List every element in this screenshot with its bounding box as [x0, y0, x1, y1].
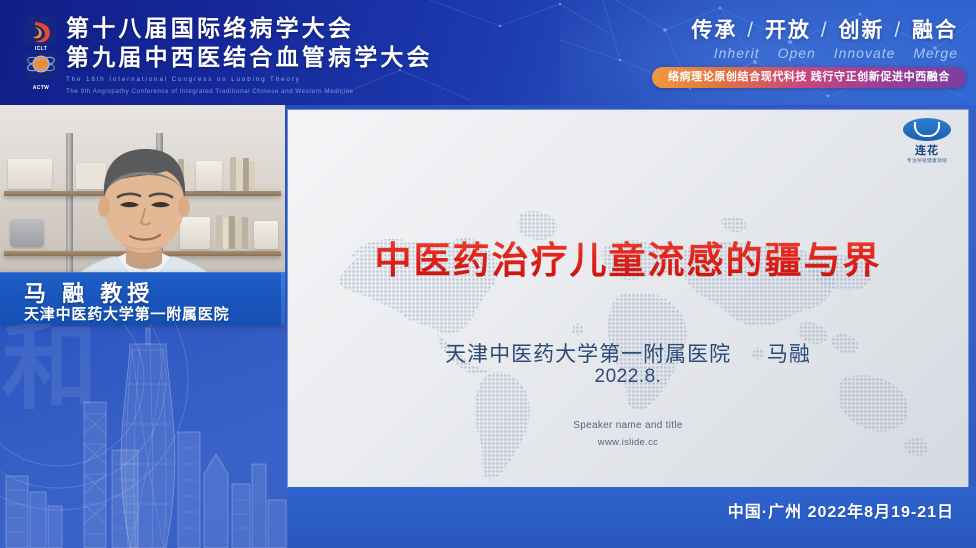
harmony-character-watermark: 和 — [2, 324, 94, 416]
slogan-word-merge-cn: 融合 — [912, 19, 958, 42]
slogan-word-open-cn: 开放 — [765, 19, 811, 42]
footer-location-date: 中国·广州 2022年8月19-21日 — [728, 498, 954, 522]
slogan-word-innovate-en: Innovate — [834, 45, 896, 61]
actw-emblem-label: ACTW — [18, 85, 64, 91]
slogan-chinese: 传承 / 开放 / 创新 / 融合 — [691, 14, 958, 44]
slogan-word-innovate-cn: 创新 — [838, 19, 884, 42]
city-skyline-decoration: 和 — [0, 324, 288, 548]
conference-title-block: 第十八届国际络病学大会 第九届中西医结合血管病学大会 The 18th Inte… — [66, 14, 433, 96]
conference-banner: ICLT ACTW 第十八届国际络病学大会 第九届中西医结合血管病学大会 The… — [0, 0, 976, 105]
slogan-word-inherit-cn: 传承 — [691, 19, 737, 42]
slide-date-text: 2022.8. — [288, 366, 968, 388]
conference-emblems: ICLT ACTW — [18, 16, 64, 90]
conference-title-primary: 第十八届国际络病学大会 — [66, 14, 433, 43]
conference-title-secondary: 第九届中西医结合血管病学大会 — [66, 43, 433, 72]
conference-subtitle-en-primary: The 18th International Congress on Luobi… — [66, 75, 433, 84]
slogan-separator-2: / — [821, 19, 829, 42]
broadcast-screen: ICLT ACTW 第十八届国际络病学大会 第九届中西医结合血管病学大会 The… — [0, 0, 976, 548]
speaker-affiliation-text: 天津中医药大学第一附属医院 — [24, 303, 229, 324]
footer-bar: 中国·广州 2022年8月19-21日 — [288, 487, 976, 548]
lianhua-logo-tagline: 专注呼吸健康领域 — [896, 158, 958, 164]
slide-subtitle-line: 天津中医药大学第一附属医院 马融 — [288, 338, 968, 368]
slide-template-url: www.islide.cc — [288, 437, 968, 448]
slogan-english: Inherit Open Innovate Merge — [691, 45, 958, 61]
slogan-word-inherit-en: Inherit — [714, 45, 760, 61]
slogan-word-open-en: Open — [778, 45, 816, 61]
slogan-pill-badge: 络病理论原创结合现代科技 践行守正创新促进中西融合 — [652, 67, 966, 88]
conference-subtitle-en-secondary: The 9th Angiopathy Conference of Integra… — [66, 87, 433, 96]
slogan-block: 传承 / 开放 / 创新 / 融合 Inherit Open Innovate … — [691, 14, 958, 61]
actw-emblem-icon — [22, 52, 60, 86]
lianhua-brand-logo: 连花 专注呼吸健康领域 — [896, 118, 958, 164]
slogan-separator-1: / — [747, 19, 755, 42]
slogan-word-merge-en: Merge — [913, 45, 958, 61]
speaker-lower-third: 马 融 教授 天津中医药大学第一附属医院 — [0, 272, 285, 325]
lianhua-logo-mark-icon — [903, 118, 951, 141]
presentation-slide[interactable]: 连花 专注呼吸健康领域 中医药治疗儿童流感的疆与界 天津中医药大学第一附属医院 … — [288, 110, 968, 487]
slogan-separator-3: / — [894, 19, 902, 42]
slide-title: 中医药治疗儿童流感的疆与界 — [288, 230, 968, 284]
lianhua-logo-text: 连花 — [896, 142, 958, 158]
slide-affiliation-text: 天津中医药大学第一附属医院 — [445, 343, 731, 366]
slide-presenter-text: 马融 — [767, 343, 811, 366]
slide-placeholder-note: Speaker name and title — [288, 420, 968, 431]
